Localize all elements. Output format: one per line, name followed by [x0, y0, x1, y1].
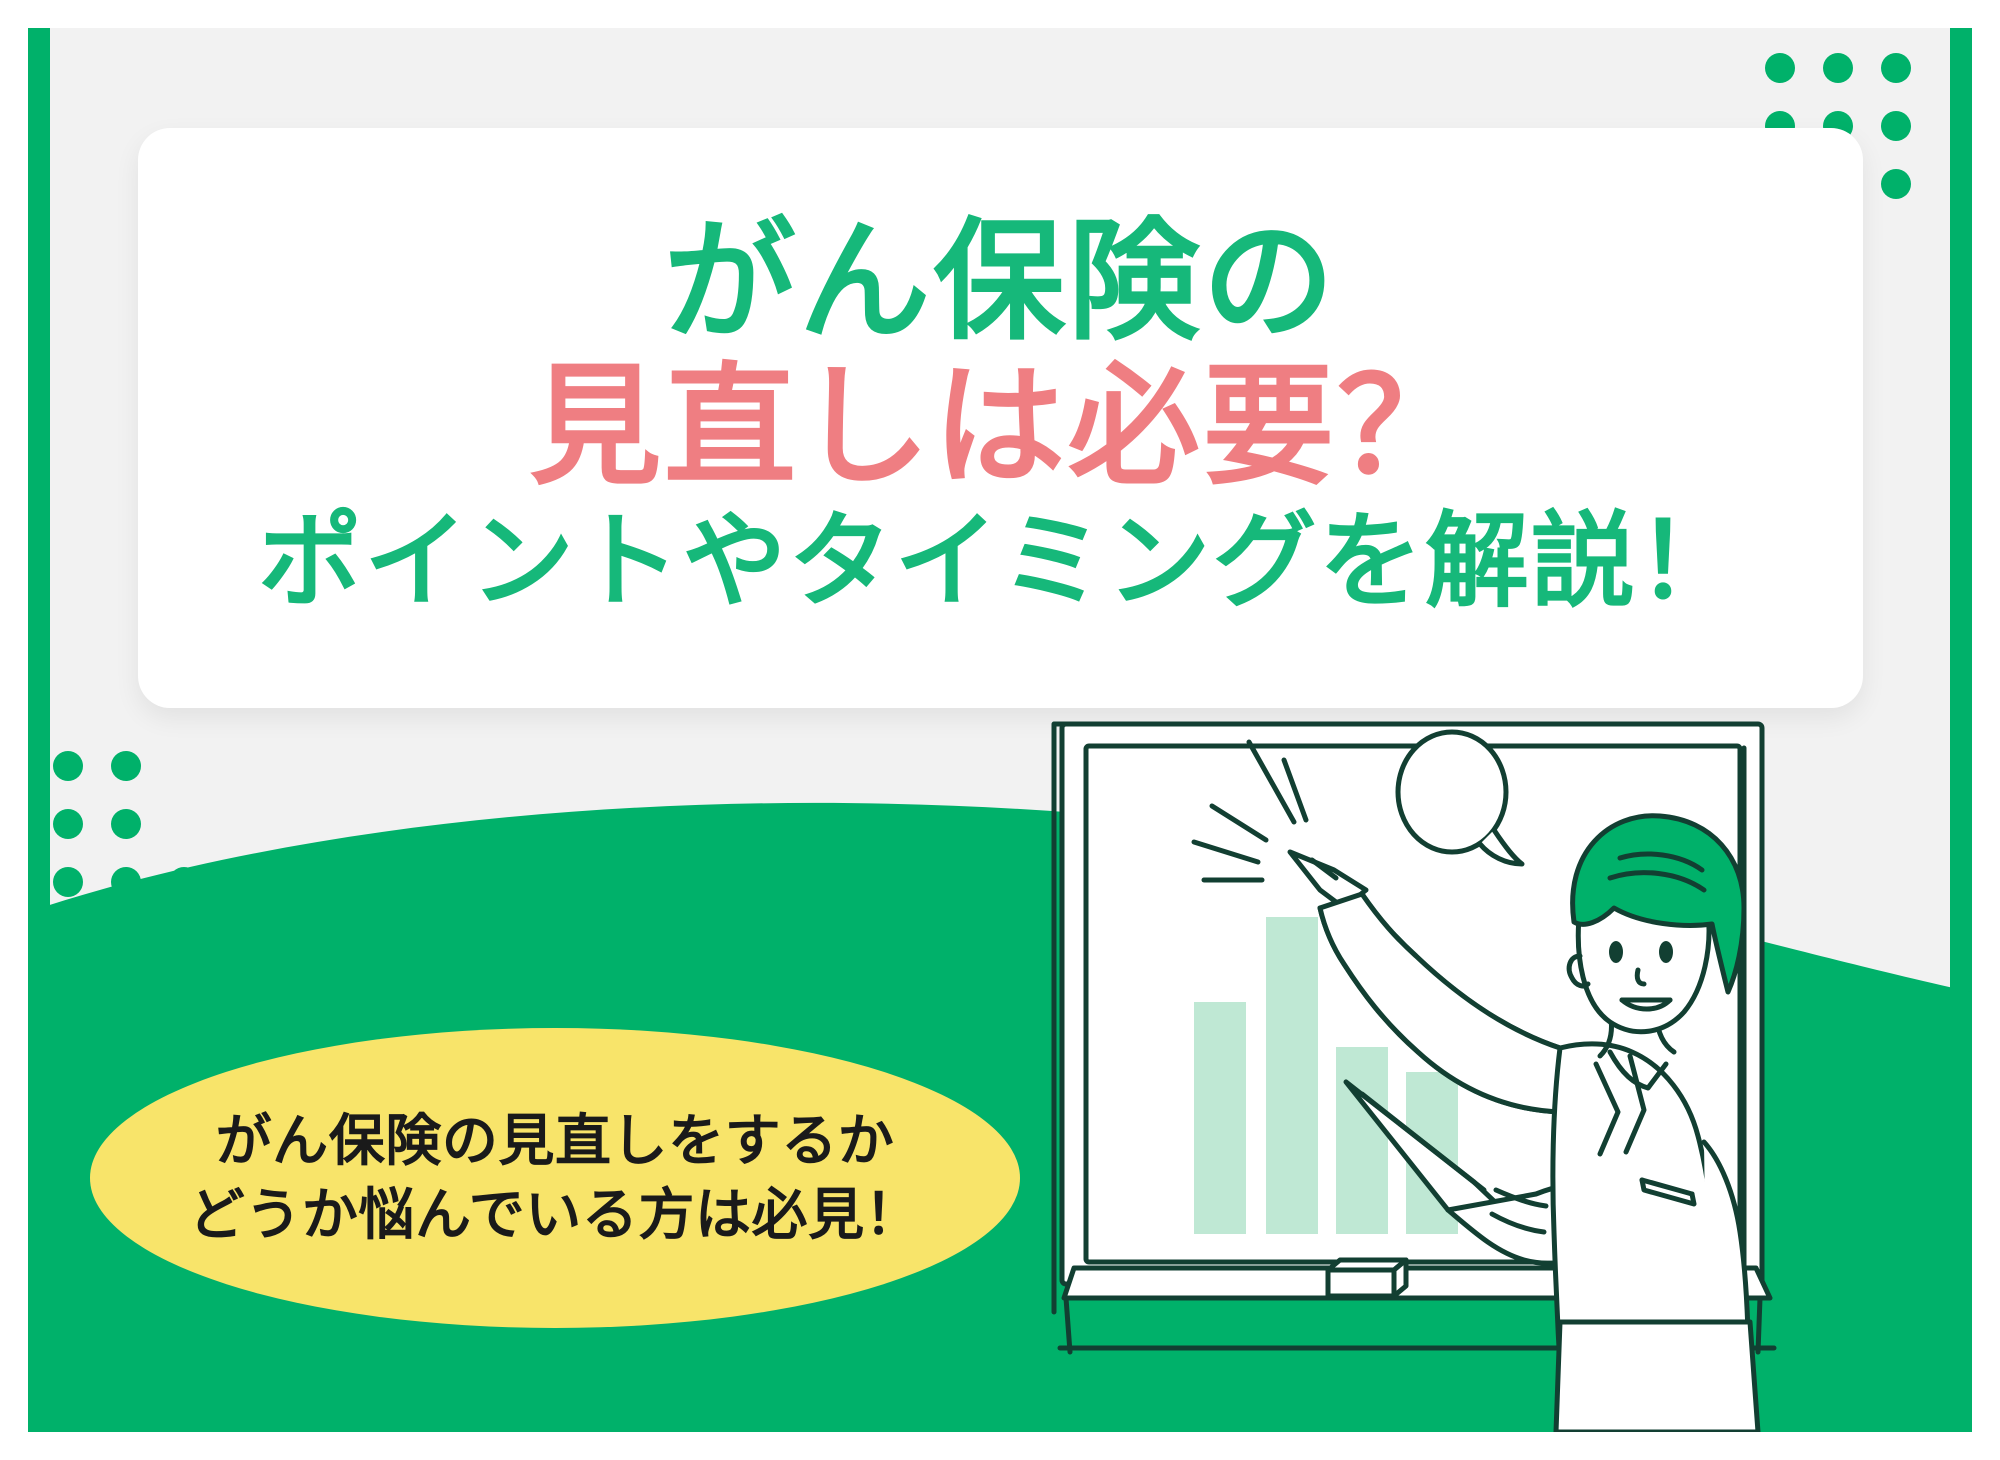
inner-panel: がん保険の 見直しは必要？ ポイントやタイミングを解説！ がん保険の見直しをする…	[28, 28, 1972, 1432]
illustration-presenter	[1044, 712, 1944, 1432]
headline-card: がん保険の 見直しは必要？ ポイントやタイミングを解説！	[138, 128, 1863, 708]
dot-grid-bottom-left	[40, 736, 230, 926]
headline-line-2: 見直しは必要？	[529, 360, 1471, 495]
callout-bubble: がん保険の見直しをするか どうか悩んでいる方は必見！	[90, 1028, 1020, 1328]
poster-canvas: がん保険の 見直しは必要？ ポイントやタイミングを解説！ がん保険の見直しをする…	[0, 0, 2000, 1460]
callout-line-2: どうか悩んでいる方は必見！	[189, 1178, 921, 1252]
headline-line-1: がん保険の	[664, 215, 1337, 350]
headline-line-3: ポイントやタイミングを解説！	[258, 509, 1743, 615]
callout-line-1: がん保険の見直しをするか	[216, 1104, 895, 1178]
